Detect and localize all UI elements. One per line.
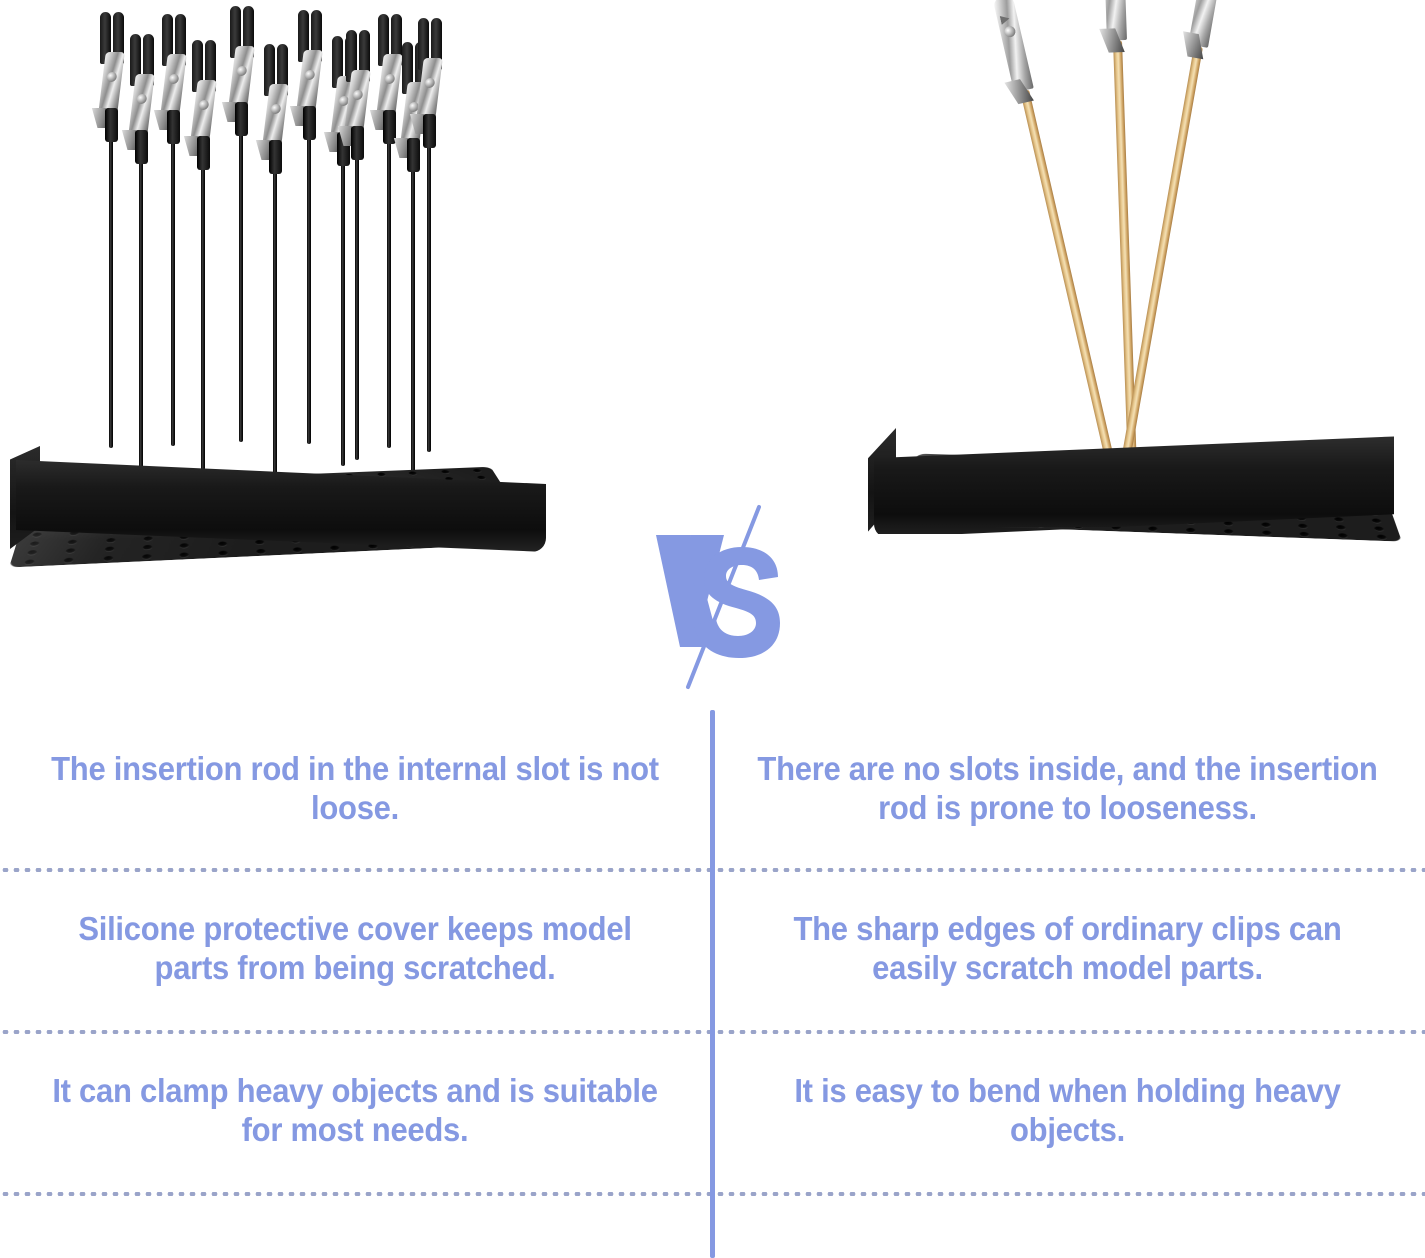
clip-rod [171, 126, 175, 446]
row-2-left-cell: Silicone protective cover keeps model pa… [0, 868, 710, 1030]
left-product-photo [0, 0, 640, 710]
silicone-alligator-clip [344, 30, 374, 148]
vs-badge-graphic [650, 495, 795, 695]
silicone-alligator-clip [296, 10, 326, 128]
row-1-right-text: There are no slots inside, and the inser… [748, 750, 1386, 828]
silicone-alligator-clip [98, 12, 128, 130]
photo-area [0, 0, 1425, 710]
silicone-alligator-clip [128, 34, 158, 152]
silicone-alligator-clip [228, 6, 258, 124]
clip-rod [355, 142, 359, 460]
right-product-photo [860, 0, 1425, 710]
clip-rod-sleeve [167, 110, 180, 144]
clip-rod-sleeve [269, 140, 282, 174]
bare-metal-alligator-clip [1100, 0, 1132, 55]
clip-rod-sleeve [303, 106, 316, 140]
bare-clip-body-icon [992, 0, 1033, 93]
clip-rod [109, 124, 113, 448]
row-2-right-cell: The sharp edges of ordinary clips can ea… [710, 868, 1425, 1030]
vertical-divider [710, 710, 715, 1258]
clip-rod [139, 146, 143, 468]
silicone-alligator-clip [190, 40, 220, 158]
row-3-left-cell: It can clamp heavy objects and is suitab… [0, 1030, 710, 1192]
row-1-left-cell: The insertion rod in the internal slot i… [0, 710, 710, 868]
silicone-alligator-clip [416, 18, 446, 136]
clip-rod [239, 118, 243, 442]
clip-rod [307, 122, 311, 444]
vs-badge [650, 495, 795, 695]
clip-rod [201, 152, 205, 470]
comparison-infographic: The insertion rod in the internal slot i… [0, 0, 1425, 1258]
clip-rod-sleeve [423, 114, 436, 148]
row-1-right-cell: There are no slots inside, and the inser… [710, 710, 1425, 868]
row-2-left-text: Silicone protective cover keeps model pa… [38, 910, 672, 988]
bamboo-stick [1020, 89, 1119, 481]
silicone-alligator-clip [160, 14, 190, 132]
silicone-alligator-clip [262, 44, 292, 162]
row-1-left-text: The insertion rod in the internal slot i… [38, 750, 672, 828]
row-3-right-cell: It is easy to bend when holding heavy ob… [710, 1030, 1425, 1192]
clip-rod-sleeve [407, 138, 420, 172]
clip-rod-sleeve [135, 130, 148, 164]
clip-rod [387, 126, 391, 448]
bare-metal-alligator-clip [1182, 0, 1229, 63]
bamboo-stick [1122, 46, 1203, 456]
row-3-left-text: It can clamp heavy objects and is suitab… [38, 1072, 672, 1150]
clip-rod [273, 156, 277, 474]
clip-rod-sleeve [235, 102, 248, 136]
clip-rod [427, 130, 431, 452]
bare-metal-alligator-clip [989, 0, 1041, 107]
row-3-right-text: It is easy to bend when holding heavy ob… [748, 1072, 1386, 1150]
row-2-right-text: The sharp edges of ordinary clips can ea… [748, 910, 1386, 988]
clip-rod-sleeve [351, 126, 364, 160]
clip-rod-sleeve [105, 108, 118, 142]
clip-rod [411, 154, 415, 472]
clip-rod [341, 148, 345, 466]
clip-rod-sleeve [197, 136, 210, 170]
